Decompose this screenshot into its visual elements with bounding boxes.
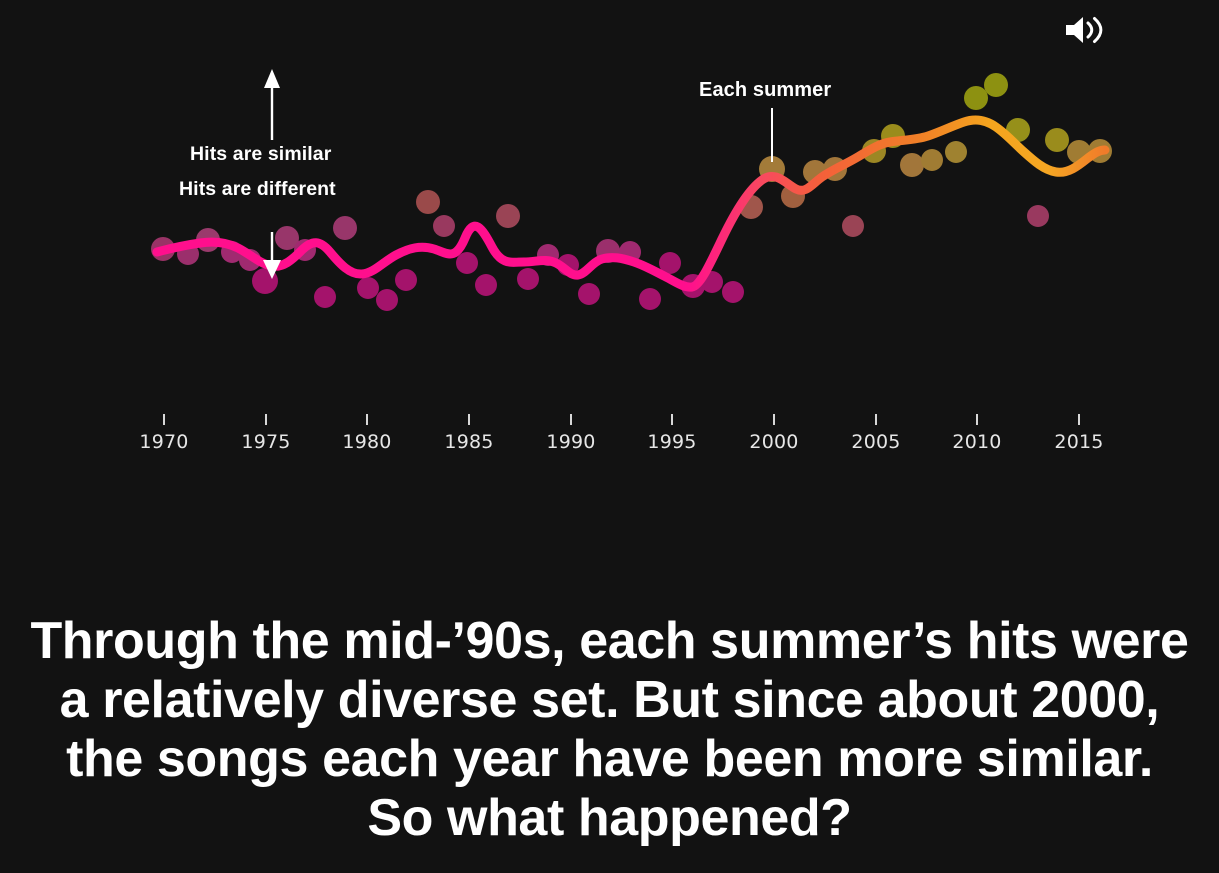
tick-label: 1970 (129, 431, 199, 453)
tick-label: 2000 (739, 431, 809, 453)
x-axis-tick: 2015 (1044, 414, 1114, 453)
x-axis-tick: 2000 (739, 414, 809, 453)
tick-label: 2005 (841, 431, 911, 453)
scatter-dot[interactable] (578, 283, 600, 305)
tick-mark (1078, 414, 1080, 425)
scatter-dot[interactable] (395, 269, 417, 291)
similarity-chart: Hits are similar Hits are different Each… (0, 0, 1219, 480)
annotation-hits-are-similar: Hits are similar (190, 143, 331, 166)
scatter-dot[interactable] (984, 73, 1008, 97)
scatter-dot[interactable] (456, 252, 478, 274)
scatter-dot[interactable] (842, 215, 864, 237)
scatter-dot[interactable] (900, 153, 924, 177)
tick-label: 1975 (231, 431, 301, 453)
scatter-dot[interactable] (517, 268, 539, 290)
scatter-dot[interactable] (416, 190, 440, 214)
tick-label: 1990 (536, 431, 606, 453)
tick-mark (163, 414, 165, 425)
x-axis-tick: 2010 (942, 414, 1012, 453)
annotation-hits-are-different: Hits are different (179, 178, 336, 201)
scatter-dot[interactable] (314, 286, 336, 308)
tick-label: 2010 (942, 431, 1012, 453)
tick-mark (773, 414, 775, 425)
chart-canvas (0, 0, 1219, 480)
x-axis-tick: 1990 (536, 414, 606, 453)
tick-mark (265, 414, 267, 425)
scatter-dot[interactable] (475, 274, 497, 296)
x-axis-tick: 1985 (434, 414, 504, 453)
tick-label: 1980 (332, 431, 402, 453)
x-axis-tick: 2005 (841, 414, 911, 453)
scatter-dot[interactable] (1027, 205, 1049, 227)
tick-label: 1995 (637, 431, 707, 453)
scatter-dot[interactable] (433, 215, 455, 237)
scatter-dot[interactable] (333, 216, 357, 240)
tick-mark (671, 414, 673, 425)
tick-mark (976, 414, 978, 425)
x-axis-tick: 1975 (231, 414, 301, 453)
scatter-dot[interactable] (722, 281, 744, 303)
headline-text: Through the mid-’90s, each summer’s hits… (0, 612, 1219, 848)
scatter-dot[interactable] (921, 149, 943, 171)
scatter-dot[interactable] (357, 277, 379, 299)
story-slide: Hits are similar Hits are different Each… (0, 0, 1219, 873)
x-axis-tick: 1980 (332, 414, 402, 453)
scatter-dot[interactable] (496, 204, 520, 228)
tick-mark (468, 414, 470, 425)
scatter-dot[interactable] (964, 86, 988, 110)
tick-mark (875, 414, 877, 425)
annotation-each-summer: Each summer (699, 79, 831, 102)
scatter-dot[interactable] (376, 289, 398, 311)
x-axis-tick: 1970 (129, 414, 199, 453)
tick-label: 2015 (1044, 431, 1114, 453)
tick-label: 1985 (434, 431, 504, 453)
scatter-dot[interactable] (1045, 128, 1069, 152)
x-axis-tick: 1995 (637, 414, 707, 453)
tick-mark (570, 414, 572, 425)
annotation-arrow-up (264, 69, 280, 140)
scatter-dot[interactable] (945, 141, 967, 163)
scatter-dot[interactable] (639, 288, 661, 310)
tick-mark (366, 414, 368, 425)
